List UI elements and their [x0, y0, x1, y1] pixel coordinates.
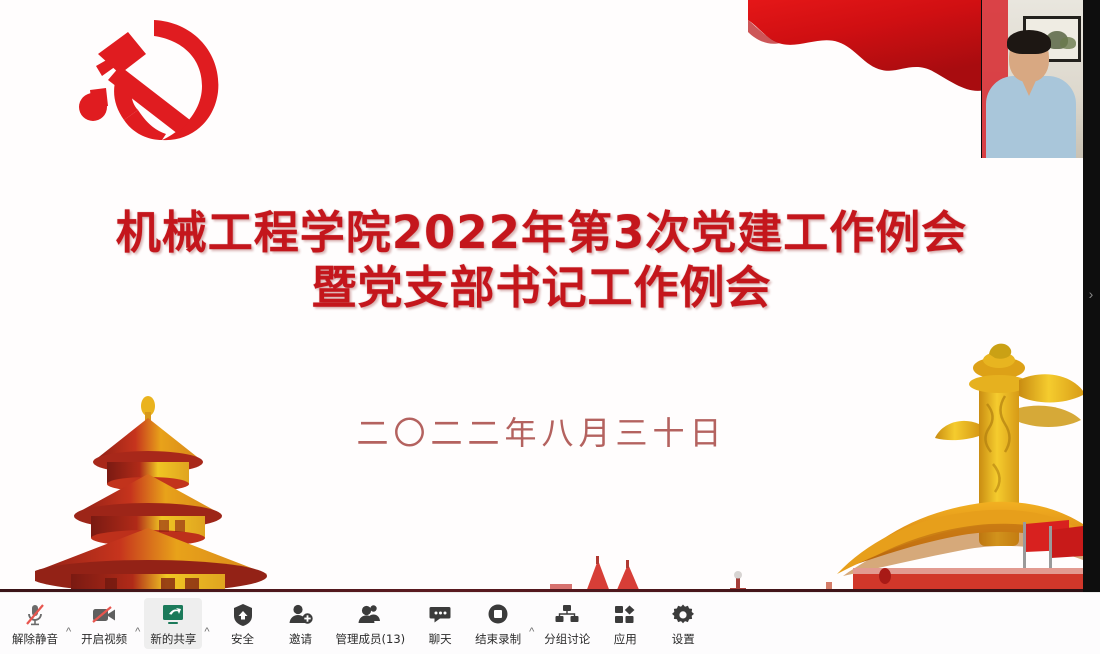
microphone-muted-icon: [24, 602, 46, 628]
manage-participants-button[interactable]: 管理成员(13): [330, 598, 412, 649]
stop-record-icon: [486, 602, 510, 628]
recording-options-caret[interactable]: ^: [527, 610, 538, 638]
security-button[interactable]: 安全: [214, 598, 272, 649]
self-view-video[interactable]: [981, 0, 1083, 158]
apps-grid-icon: [613, 602, 637, 628]
unmute-label: 解除静音: [12, 631, 58, 647]
meeting-window: 机械工程学院2022年第3次党建工作例会 暨党支部书记工作例会 二〇二二年八月三…: [0, 0, 1100, 654]
stop-recording-label: 结束录制: [475, 631, 521, 647]
temple-of-heaven: [35, 392, 297, 592]
participant-hair: [1007, 30, 1051, 54]
participants-icon: [357, 602, 383, 628]
slide-title: 机械工程学院2022年第3次党建工作例会 暨党支部书记工作例会: [0, 206, 1083, 314]
cpc-emblem: [62, 14, 228, 150]
unmute-button[interactable]: 解除静音: [6, 598, 64, 649]
video-options-caret[interactable]: ^: [133, 610, 144, 638]
stop-recording-button[interactable]: 结束录制: [469, 598, 527, 649]
slide-title-line-2: 暨党支部书记工作例会: [0, 261, 1083, 314]
screen-share-icon: [160, 602, 186, 628]
toolbar-center-group: 新的共享 ^ 安全: [144, 598, 712, 649]
share-options-caret[interactable]: ^: [202, 610, 213, 638]
start-video-label: 开启视频: [81, 631, 127, 647]
invite-label: 邀请: [289, 631, 312, 647]
right-rail[interactable]: ›: [1083, 0, 1100, 592]
audio-options-caret[interactable]: ^: [64, 610, 75, 638]
settings-label: 设置: [672, 631, 695, 647]
apps-label: 应用: [614, 631, 637, 647]
manage-participants-label: 管理成员(13): [336, 631, 406, 647]
tiananmen-gate: [793, 324, 1083, 592]
breakout-rooms-icon: [554, 602, 580, 628]
breakout-rooms-button[interactable]: 分组讨论: [538, 598, 596, 649]
invite-button[interactable]: 邀请: [272, 598, 330, 649]
new-share-label: 新的共享: [150, 631, 196, 647]
start-video-button[interactable]: 开启视频: [75, 598, 133, 649]
slide-title-line-1: 机械工程学院2022年第3次党建工作例会: [0, 206, 1083, 259]
chat-bubble-icon: [428, 602, 452, 628]
camera-off-icon: [91, 602, 117, 628]
chat-label: 聊天: [429, 631, 452, 647]
security-label: 安全: [231, 631, 254, 647]
shared-screen-stage[interactable]: 机械工程学院2022年第3次党建工作例会 暨党支部书记工作例会 二〇二二年八月三…: [0, 0, 1083, 592]
settings-button[interactable]: 设置: [654, 598, 712, 649]
breakout-rooms-label: 分组讨论: [544, 631, 590, 647]
chat-button[interactable]: 聊天: [411, 598, 469, 649]
meeting-toolbar: 解除静音 ^ 开启视频 ^: [0, 592, 1100, 654]
chevron-right-icon[interactable]: ›: [1086, 285, 1096, 303]
red-flag: [738, 0, 988, 114]
toolbar-left-group: 解除静音 ^ 开启视频 ^: [0, 598, 144, 649]
person-add-icon: [288, 602, 314, 628]
new-share-button[interactable]: 新的共享: [144, 598, 202, 649]
shield-icon: [232, 602, 254, 628]
apps-button[interactable]: 应用: [596, 598, 654, 649]
gear-icon: [671, 602, 695, 628]
